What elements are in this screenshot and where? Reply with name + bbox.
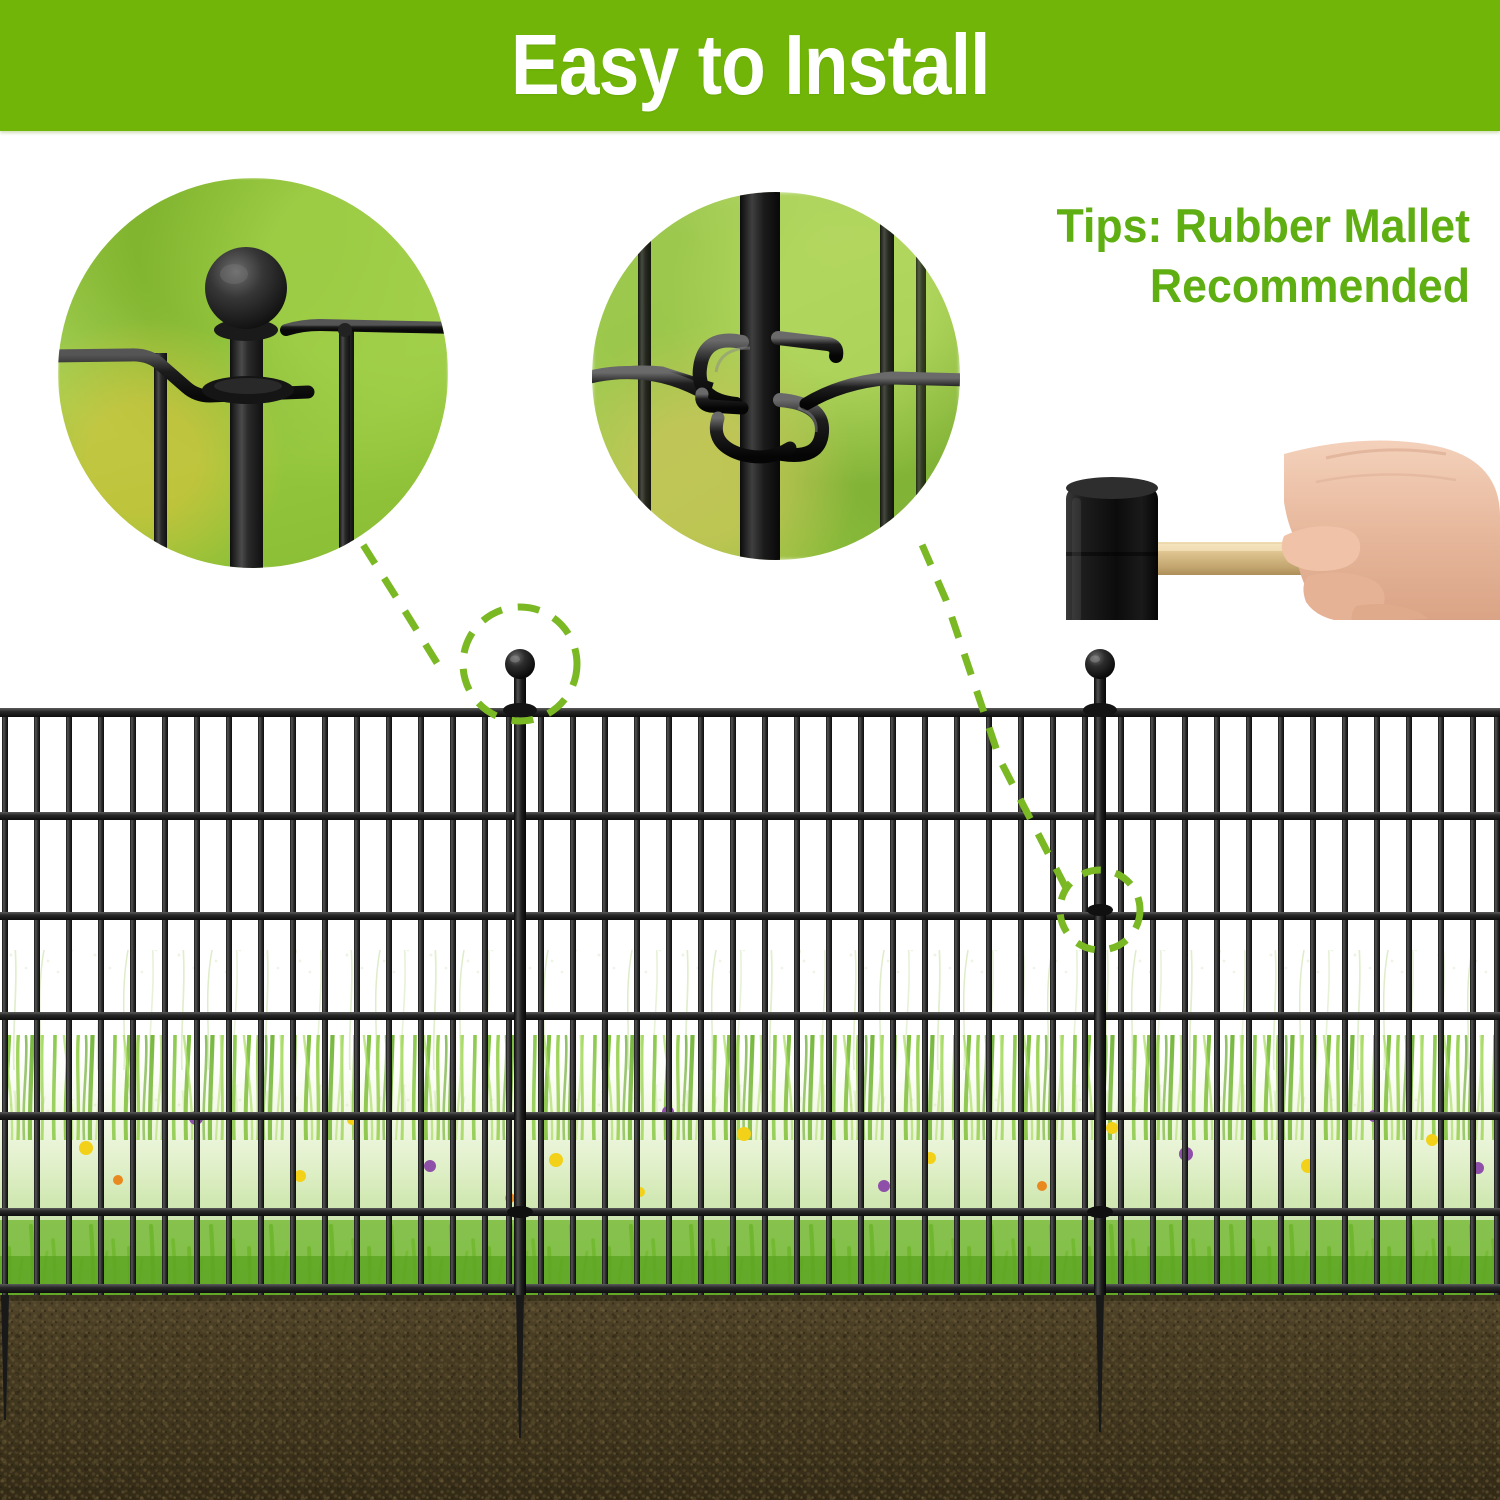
tips-line-2: Recommended — [881, 256, 1470, 316]
mallet-head — [1066, 477, 1158, 644]
banner-title: Easy to Install — [511, 23, 990, 108]
fence-top-rail — [0, 708, 1500, 717]
soil-ground — [0, 1295, 1500, 1500]
detail-photo-panel-connector — [592, 192, 960, 560]
detail-photo-post-finial — [58, 178, 448, 568]
post-2-collar — [1083, 703, 1117, 717]
detail-1-post — [230, 328, 263, 568]
tips-line-1: Tips: Rubber Mallet — [881, 196, 1470, 256]
fence-scene — [0, 620, 1500, 1500]
tips-text: Tips: Rubber Mallet Recommended — [881, 196, 1470, 315]
detail-2-post — [740, 192, 780, 560]
post-2-ball-finial — [1085, 649, 1115, 679]
post-2-shaft — [1094, 678, 1106, 1295]
post-finial-illustration — [58, 178, 448, 568]
post-1-collar — [503, 703, 537, 717]
post-2-mid-collar — [1087, 1206, 1113, 1218]
header-banner: Easy to Install — [0, 0, 1500, 131]
detail-2-hook-upper-arm — [778, 338, 836, 356]
post-1-ball-finial — [505, 649, 535, 679]
post-2-upper-joint — [1087, 904, 1113, 916]
post-1-shaft — [514, 678, 526, 1295]
panel-connector-illustration — [592, 192, 960, 560]
hand-thumb — [1282, 526, 1360, 571]
infographic-canvas: Easy to Install Tips: Rubber Mallet Reco… — [0, 0, 1500, 1500]
detail-1-ball-finial — [205, 247, 287, 329]
detail-2-background-bars — [638, 222, 926, 560]
fence-bottom-rail — [0, 1284, 1500, 1293]
post-1-mid-collar — [507, 1206, 533, 1218]
detail-1-upper-rail — [286, 325, 448, 330]
grass-band — [0, 1035, 1500, 1296]
